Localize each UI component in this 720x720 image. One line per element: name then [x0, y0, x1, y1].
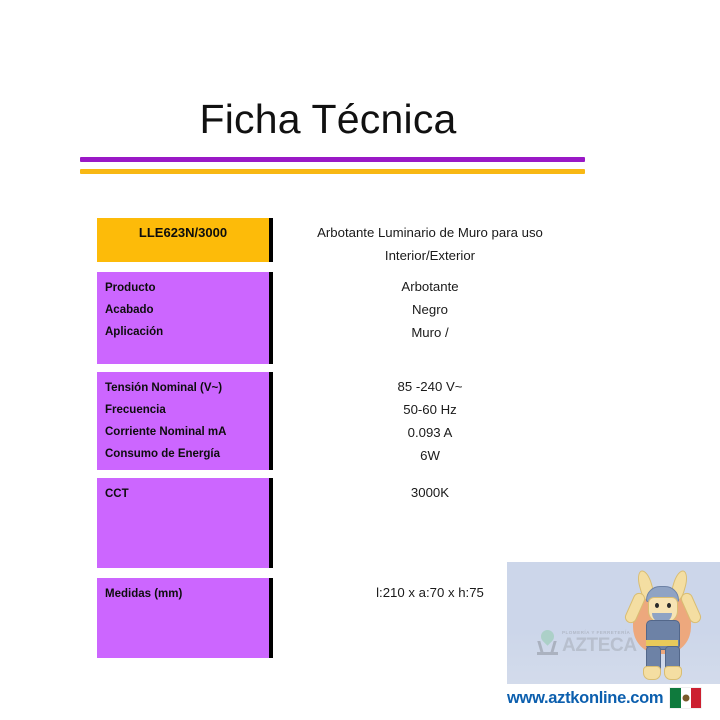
electrical-label-cell: Tensión Nominal (V~) Frecuencia Corrient… [97, 372, 273, 470]
logo-wordmark: AZTECA [562, 636, 637, 655]
divider-purple [80, 157, 585, 162]
model-code-cell: LLE623N/3000 [97, 218, 273, 262]
value-cct: 3000K [273, 481, 587, 504]
value-frecuencia: 50-60 Hz [273, 398, 587, 421]
website-strip: www.aztkonline.com [507, 684, 720, 712]
brand-watermark-panel: PLOMERÍA Y FERRETERÍA AZTECA [507, 562, 720, 684]
divider-gold [80, 169, 585, 174]
model-description-line-2: Interior/Exterior [273, 244, 587, 267]
cct-label-cell: CCT [97, 478, 273, 568]
label-medidas: Medidas (mm) [105, 583, 269, 605]
medidas-label-cell: Medidas (mm) [97, 578, 273, 658]
spec-block-general: Producto Acabado Aplicación Arbotante Ne… [97, 272, 587, 364]
datasheet-page: Ficha Técnica LLE623N/3000 Arbotante Lum… [0, 0, 720, 720]
water-drop-icon [537, 630, 558, 655]
label-tension-nominal: Tensión Nominal (V~) [105, 377, 269, 399]
label-producto: Producto [105, 277, 269, 299]
value-producto: Arbotante [273, 275, 587, 298]
label-frecuencia: Frecuencia [105, 399, 269, 421]
website-url[interactable]: www.aztkonline.com [507, 689, 663, 708]
model-description-cell: Arbotante Luminario de Muro para uso Int… [273, 218, 587, 267]
electrical-value-cell: 85 -240 V~ 50-60 Hz 0.093 A 6W [273, 372, 587, 467]
spec-block-electrical: Tensión Nominal (V~) Frecuencia Corrient… [97, 372, 587, 470]
row-gap [97, 470, 587, 478]
label-aplicacion: Aplicación [105, 321, 269, 343]
azteca-logo-text: PLOMERÍA Y FERRETERÍA AZTECA [562, 631, 637, 655]
label-cct: CCT [105, 483, 269, 505]
value-tension-nominal: 85 -240 V~ [273, 375, 587, 398]
value-acabado: Negro [273, 298, 587, 321]
spec-block-model: LLE623N/3000 Arbotante Luminario de Muro… [97, 218, 587, 262]
azteca-logo: PLOMERÍA Y FERRETERÍA AZTECA [537, 630, 637, 655]
value-consumo-energia: 6W [273, 444, 587, 467]
general-label-cell: Producto Acabado Aplicación [97, 272, 273, 364]
label-consumo-energia: Consumo de Energía [105, 443, 269, 465]
page-title: Ficha Técnica [0, 96, 656, 142]
cct-value-cell: 3000K [273, 478, 587, 504]
general-value-cell: Arbotante Negro Muro / [273, 272, 587, 344]
azteca-mascot-icon [619, 568, 705, 680]
label-acabado: Acabado [105, 299, 269, 321]
spec-block-cct: CCT 3000K [97, 478, 587, 568]
value-corriente-nominal: 0.093 A [273, 421, 587, 444]
model-code: LLE623N/3000 [105, 223, 269, 243]
value-aplicacion: Muro / [273, 321, 587, 344]
mexico-flag-icon [670, 688, 701, 708]
model-description-line-1: Arbotante Luminario de Muro para uso [273, 221, 587, 244]
row-gap [97, 364, 587, 372]
label-corriente-nominal: Corriente Nominal mA [105, 421, 269, 443]
